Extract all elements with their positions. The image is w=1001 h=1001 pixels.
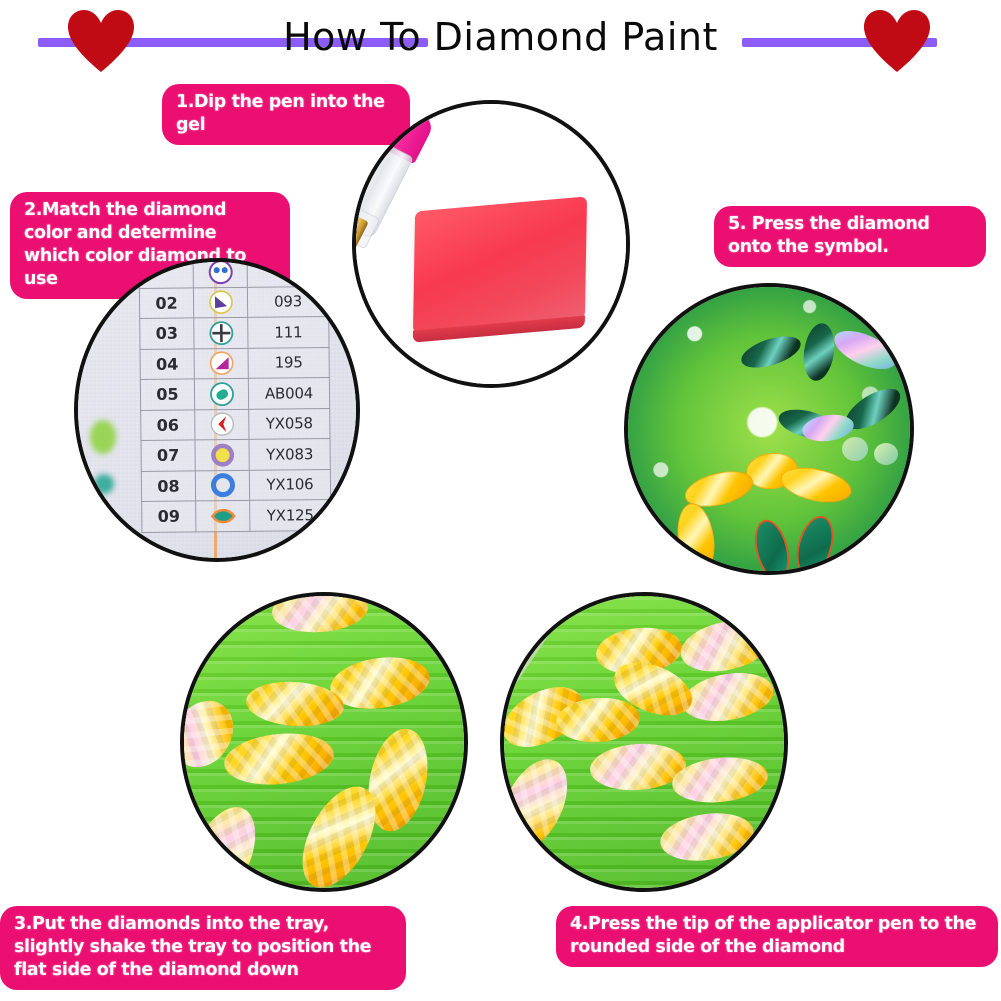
step-3-label: 3.Put the diamonds into the tray, slight… xyxy=(0,906,406,990)
chart-row-number: 02 xyxy=(139,287,193,318)
chart-row-number: 06 xyxy=(141,409,195,440)
chart-row-symbol-triangle-magenta-icon xyxy=(194,348,248,379)
photo-diamonds-in-tray xyxy=(180,592,468,892)
color-chart-row: 05 AB004 xyxy=(140,378,329,410)
color-chart-row: 06 YX058 xyxy=(141,408,330,440)
step-5-label: 5. Press the diamond onto the symbol. xyxy=(714,206,986,267)
chart-row-symbol-leaf-teal-orange-icon xyxy=(196,500,250,531)
gem-round xyxy=(842,437,868,461)
chart-row-symbol-ring-blue-icon xyxy=(195,470,249,501)
chart-row-number: 03 xyxy=(140,318,194,349)
color-chart-row: 03 111 xyxy=(140,317,329,349)
chart-row-code: 111 xyxy=(248,317,329,348)
chart-row-symbol-capsule-teal-icon xyxy=(194,378,248,409)
photo-applicator-pen xyxy=(500,592,788,892)
chart-row-symbol-plus-cross-icon xyxy=(194,317,248,348)
step-4-label: 4.Press the tip of the applicator pen to… xyxy=(556,906,998,967)
chart-row-code: YX125 xyxy=(250,500,331,531)
photo-color-chart: 02802 09303 11104 19505 AB00406 YX05807 … xyxy=(74,258,360,562)
chart-row-code: 195 xyxy=(248,347,329,378)
paint-smudge xyxy=(94,474,114,494)
chart-row-code: 093 xyxy=(247,286,328,317)
color-chart-row: 028 xyxy=(139,258,328,288)
chart-row-symbol-circle-dots-purple-icon xyxy=(193,258,247,287)
photo-pressing-onto-symbol xyxy=(624,283,914,575)
gem-round xyxy=(874,443,898,465)
chart-row-symbol-circle-yellow-purple-icon xyxy=(195,439,249,470)
chart-row-number: 08 xyxy=(141,470,195,501)
color-chart-table: 02802 09303 11104 19505 AB00406 YX05807 … xyxy=(139,258,332,532)
chart-row-number: 07 xyxy=(141,440,195,471)
chart-row-number: 05 xyxy=(140,379,194,410)
color-chart-row: 04 195 xyxy=(140,347,329,379)
color-chart-row: 08YX106 xyxy=(141,469,330,501)
photo-pen-dipping-in-gel xyxy=(352,100,630,388)
chart-row-code: YX058 xyxy=(249,408,330,439)
chart-row-number xyxy=(139,258,193,288)
color-chart-row: 09YX125 xyxy=(142,500,331,532)
chart-row-symbol-triangle-purple-icon xyxy=(193,287,247,318)
chart-row-code: 028 xyxy=(247,258,328,287)
gel-pad xyxy=(413,196,587,333)
chart-row-code: YX083 xyxy=(249,439,330,470)
chart-row-number: 09 xyxy=(142,501,196,532)
chart-row-code: YX106 xyxy=(249,469,330,500)
page-title: How To Diamond Paint xyxy=(0,14,1001,60)
chart-row-number: 04 xyxy=(140,348,194,379)
color-chart-row: 07 YX083 xyxy=(141,439,330,471)
paint-smudge xyxy=(90,420,116,454)
infographic-canvas: How To Diamond Paint 1.Dip the pen into … xyxy=(0,0,1001,1001)
chart-row-symbol-arrow-left-red-icon xyxy=(195,409,249,440)
color-chart-row: 02 093 xyxy=(139,286,328,318)
chart-row-code: AB004 xyxy=(248,378,329,409)
